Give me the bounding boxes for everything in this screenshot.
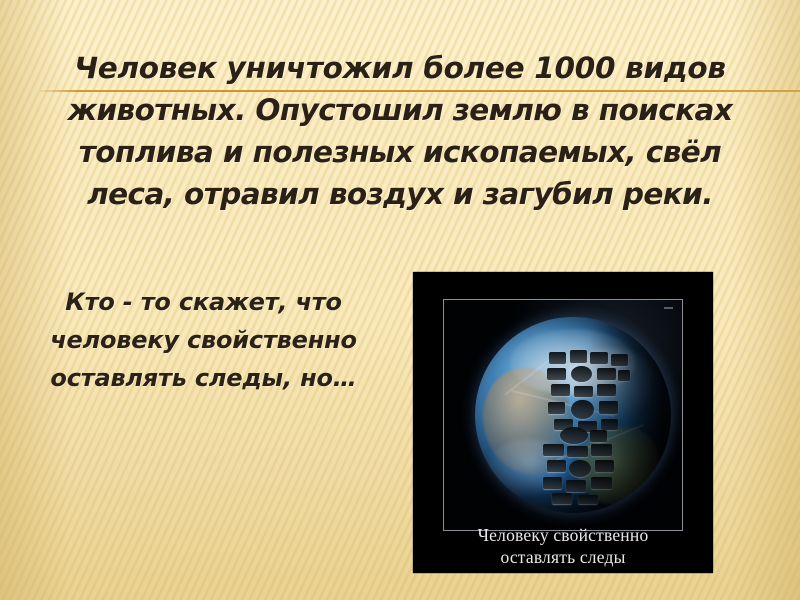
slide-title: Человек уничтожил более 1000 видов живот… xyxy=(18,47,782,215)
demotivator-picture: Человеку свойственно оставлять следы xyxy=(413,272,713,573)
body-line-1: Кто - то скажет, что xyxy=(6,283,401,321)
title-line-4: леса, отравил воздух и загубил реки. xyxy=(18,173,782,215)
title-line-1: Человек уничтожил более 1000 видов xyxy=(18,47,782,89)
earth-globe-image xyxy=(475,317,671,513)
picture-inner-border xyxy=(443,299,683,531)
title-underline-rule xyxy=(40,90,800,92)
picture-caption: Человеку свойственно оставлять следы xyxy=(413,524,713,568)
body-paragraph: Кто - то скажет, что человеку свойственн… xyxy=(6,283,401,397)
title-line-3: топлива и полезных ископаемых, свёл xyxy=(18,131,782,173)
title-line-2: животных. Опустошил землю в поисках xyxy=(18,89,782,131)
caption-line-2: оставлять следы xyxy=(413,546,713,568)
body-line-2: человеку свойственно xyxy=(6,321,401,359)
body-line-3: оставлять следы, но… xyxy=(6,359,401,397)
globe-shadow-terminator xyxy=(475,317,671,513)
star-speck xyxy=(664,307,673,309)
caption-line-1: Человеку свойственно xyxy=(413,524,713,546)
slide-canvas: Человек уничтожил более 1000 видов живот… xyxy=(0,0,800,600)
